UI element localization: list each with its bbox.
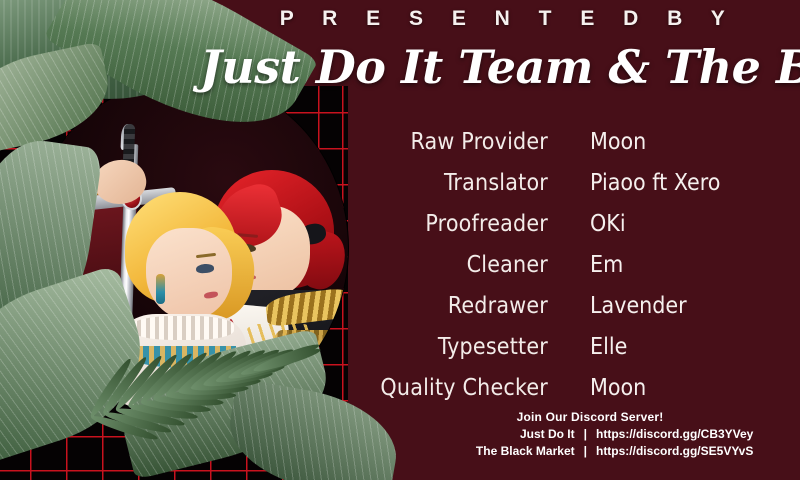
credit-role: Quality Checker [380,368,590,409]
discord-team-name: Just Do It [427,426,584,442]
credit-row: RedrawerLavender [380,286,800,327]
credit-role: Raw Provider [380,122,590,163]
credit-row: CleanerEm [380,245,800,286]
discord-heading: Join Our Discord Server! [380,409,800,425]
woman-earring [156,274,165,304]
credit-role: Redrawer [380,286,590,327]
discord-invite-link[interactable]: https://discord.gg/SE5VYvS [587,443,753,459]
team-title: Just Do It Team & The Black Market [200,36,800,98]
credit-role: Proofreader [380,204,590,245]
credit-role: Typesetter [380,327,590,368]
presented-by-heading: P R E S E N T E D B Y [228,4,788,34]
credit-person: OKi [590,204,626,245]
credits-list: Raw ProviderMoonTranslatorPiaoo ft XeroP… [380,122,800,409]
credit-role: Cleaner [380,245,590,286]
credit-role: Translator [380,163,590,204]
credit-person: Lavender [590,286,687,327]
credits-page: P R E S E N T E D B Y Just Do It Team & … [0,0,800,480]
credit-person: Elle [590,327,627,368]
discord-link-row: The Black Market|https://discord.gg/SE5V… [380,443,800,459]
credit-row: TranslatorPiaoo ft Xero [380,163,800,204]
discord-invite-link[interactable]: https://discord.gg/CB3YVey [587,426,753,442]
credit-person: Moon [590,122,646,163]
credit-row: Raw ProviderMoon [380,122,800,163]
credit-row: TypesetterElle [380,327,800,368]
credit-person: Piaoo ft Xero [590,163,720,204]
discord-links: Just Do It|https://discord.gg/CB3YVeyThe… [380,426,800,459]
credit-row: ProofreaderOKi [380,204,800,245]
credit-person: Moon [590,368,646,409]
credit-person: Em [590,245,623,286]
credit-row: Quality CheckerMoon [380,368,800,409]
discord-footer: Join Our Discord Server! Just Do It|http… [380,409,800,459]
discord-link-row: Just Do It|https://discord.gg/CB3YVey [380,426,800,442]
discord-team-name: The Black Market [427,443,584,459]
